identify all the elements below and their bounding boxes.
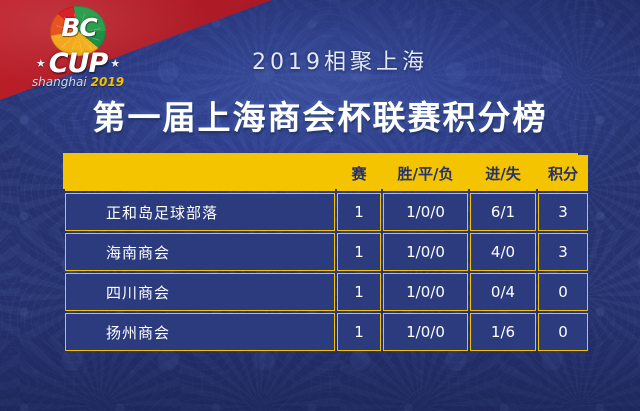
column-header-wdl: 胜/平/负	[383, 155, 468, 191]
poster-subtitle: 2019相聚上海	[0, 48, 640, 78]
team-name-cell: 海南商会	[65, 233, 335, 271]
column-header-goals: 进/失	[470, 155, 536, 191]
table-row: 海南商会11/0/04/03	[65, 233, 588, 271]
table-row: 正和岛足球部落11/0/06/13	[65, 193, 588, 231]
goals-for-against-cell: 0/4	[470, 273, 536, 311]
team-name-cell: 四川商会	[65, 273, 335, 311]
games-played-cell: 1	[337, 193, 381, 231]
column-header-team	[65, 155, 335, 191]
win-draw-loss-cell: 1/0/0	[383, 233, 468, 271]
goals-for-against-cell: 6/1	[470, 193, 536, 231]
games-played-cell: 1	[337, 313, 381, 351]
table-body: 正和岛足球部落11/0/06/13海南商会11/0/04/03四川商会11/0/…	[65, 193, 588, 351]
table-head: 赛 胜/平/负 进/失 积分	[65, 155, 588, 191]
table-row: 四川商会11/0/00/40	[65, 273, 588, 311]
column-header-points: 积分	[538, 155, 588, 191]
goals-for-against-cell: 4/0	[470, 233, 536, 271]
poster-root: BC ★ CUP ★ shanghai 2019 2019相聚上海 第一届上海商…	[0, 0, 640, 411]
team-name-cell: 正和岛足球部落	[65, 193, 335, 231]
win-draw-loss-cell: 1/0/0	[383, 273, 468, 311]
goals-for-against-cell: 1/6	[470, 313, 536, 351]
games-played-cell: 1	[337, 233, 381, 271]
column-header-games: 赛	[337, 155, 381, 191]
points-cell: 3	[538, 233, 588, 271]
win-draw-loss-cell: 1/0/0	[383, 193, 468, 231]
win-draw-loss-cell: 1/0/0	[383, 313, 468, 351]
standings-table-wrapper: 赛 胜/平/负 进/失 积分 正和岛足球部落11/0/06/13海南商会11/0…	[63, 153, 578, 353]
logo-monogram: BC	[52, 15, 106, 40]
page-title: 第一届上海商会杯联赛积分榜	[0, 96, 640, 140]
points-cell: 0	[538, 273, 588, 311]
table-header-row: 赛 胜/平/负 进/失 积分	[65, 155, 588, 191]
standings-table: 赛 胜/平/负 进/失 积分 正和岛足球部落11/0/06/13海南商会11/0…	[63, 153, 590, 353]
table-row: 扬州商会11/0/01/60	[65, 313, 588, 351]
games-played-cell: 1	[337, 273, 381, 311]
team-name-cell: 扬州商会	[65, 313, 335, 351]
points-cell: 0	[538, 313, 588, 351]
points-cell: 3	[538, 193, 588, 231]
